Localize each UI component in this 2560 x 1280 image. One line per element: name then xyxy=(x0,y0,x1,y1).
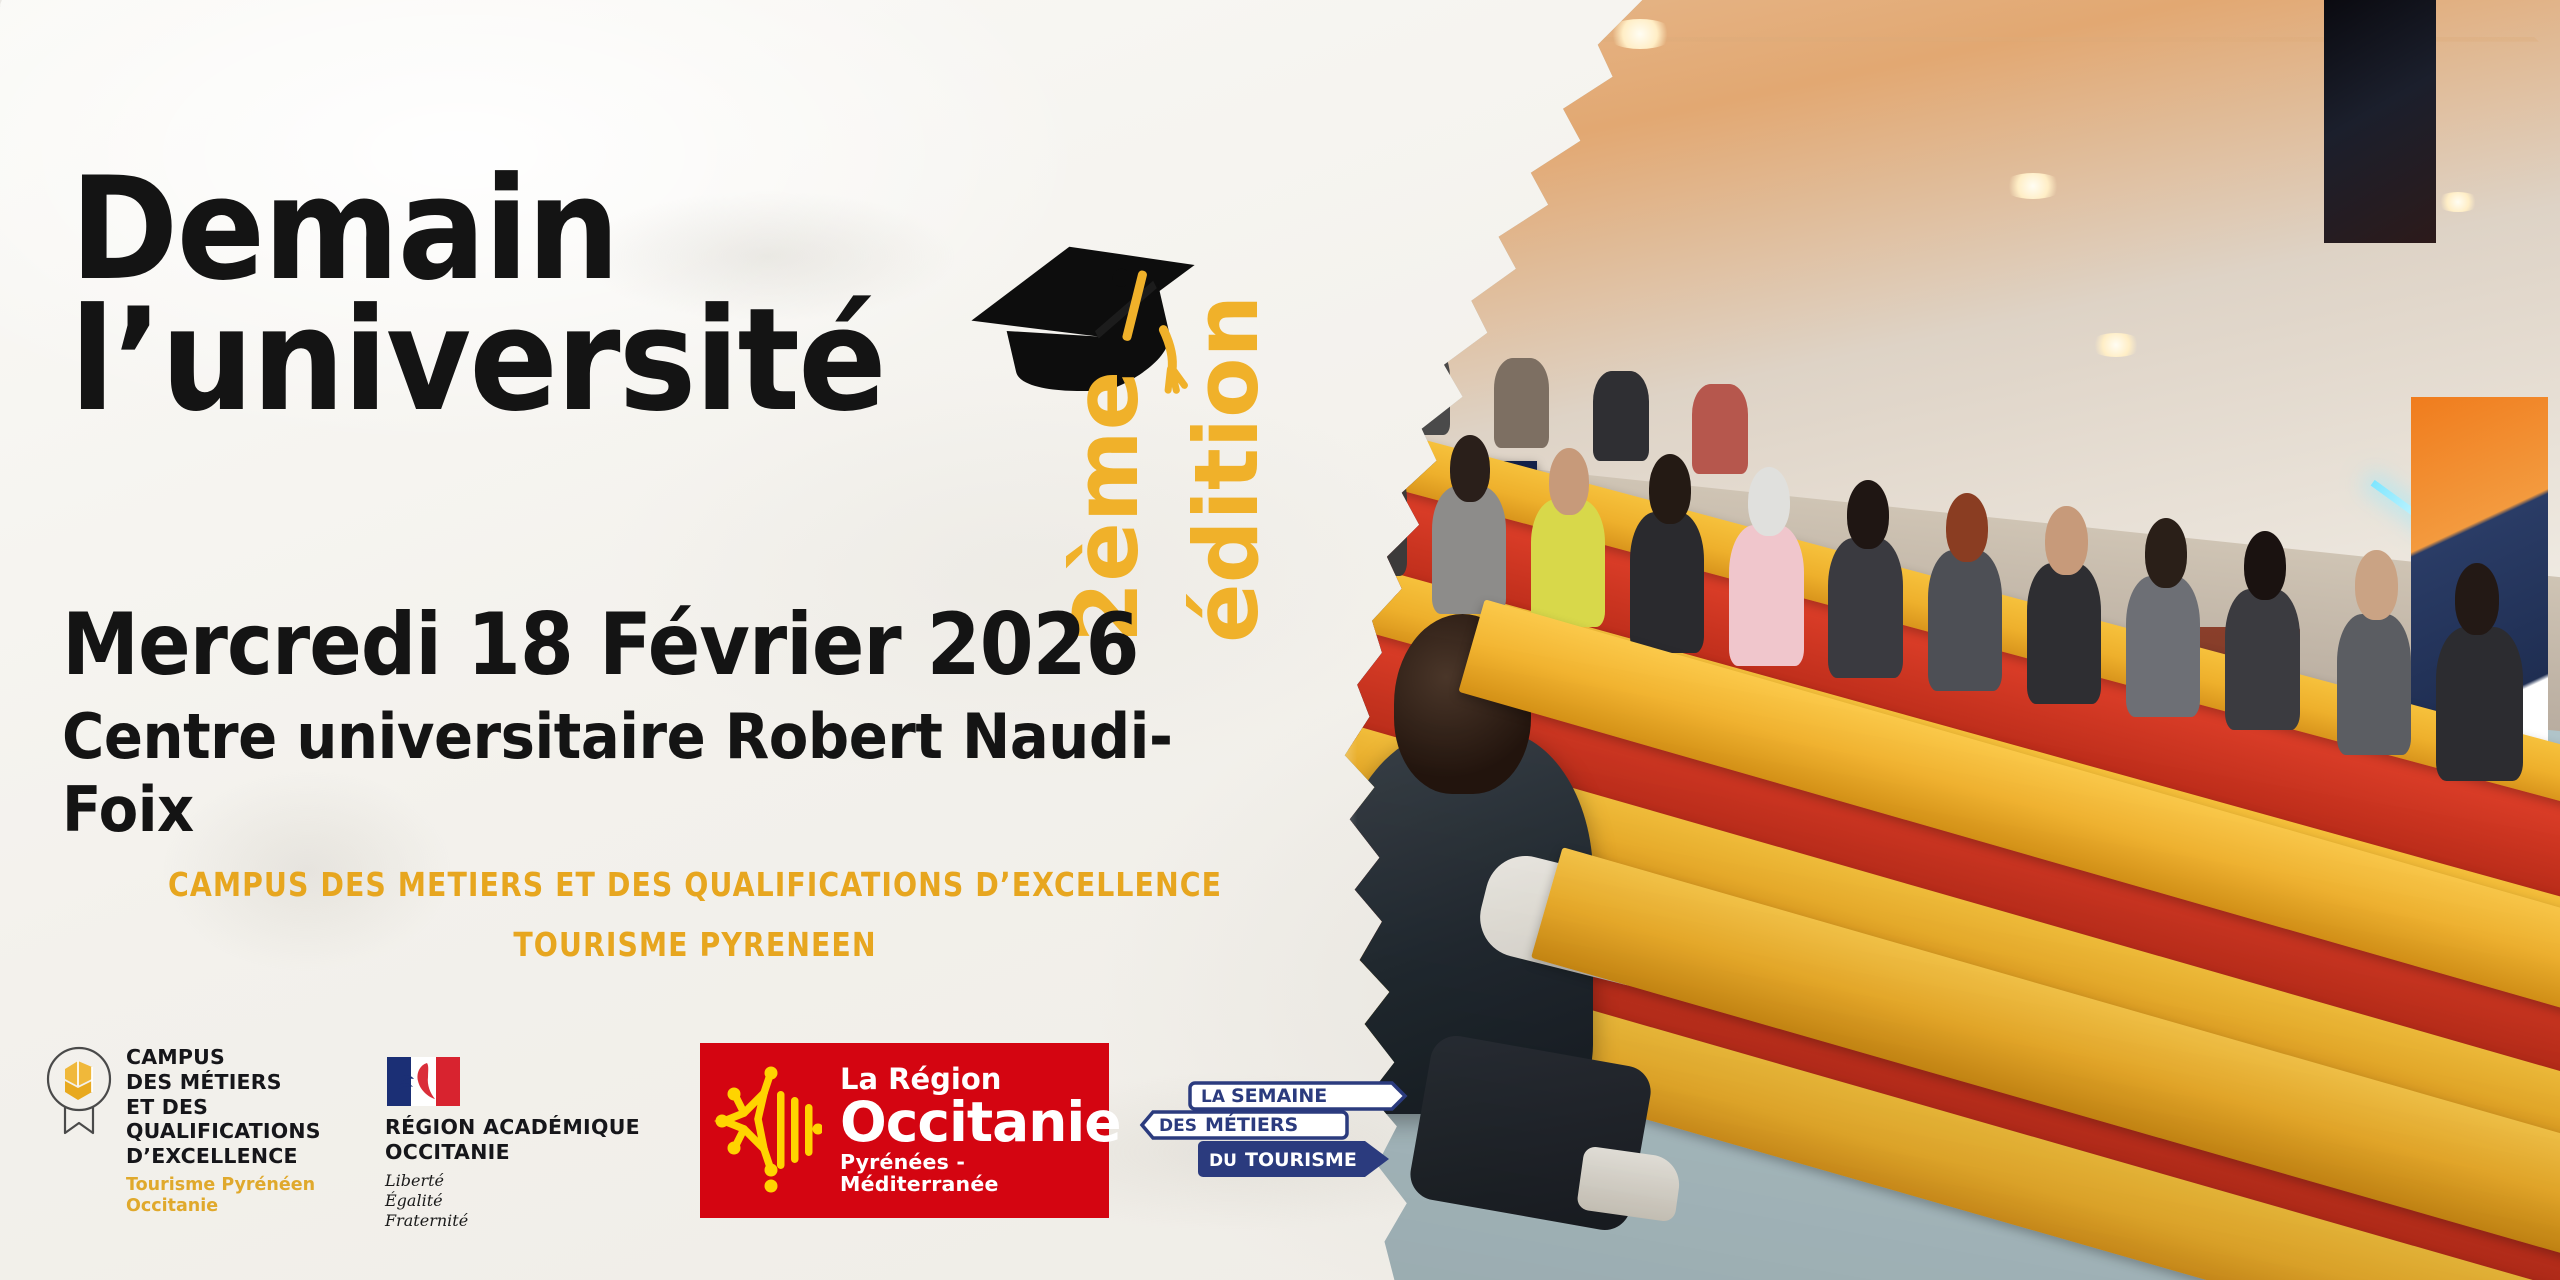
devise-republicaine: Liberté Égalité Fraternité xyxy=(385,1171,640,1231)
svg-text:SEMAINE: SEMAINE xyxy=(1231,1085,1327,1107)
occitanie-text: La Région Occitanie Pyrénées - Méditerra… xyxy=(840,1065,1121,1195)
campus-subtitle-line-2: TOURISME PYRENEEN xyxy=(97,925,1292,964)
svg-text:TOURISME: TOURISME xyxy=(1245,1149,1357,1171)
svg-text:LA: LA xyxy=(1201,1087,1226,1107)
devise-egalite: Égalité xyxy=(385,1191,640,1211)
devise-liberte: Liberté xyxy=(385,1171,640,1191)
cmq-sub-1: Tourisme Pyrénéen xyxy=(126,1175,321,1196)
semaine-signpost-icon: LA SEMAINE DES MÉTIERS DU TOURISME xyxy=(1137,1079,1412,1179)
campus-subtitle-line-1: CAMPUS DES METIERS ET DES QUALIFICATIONS… xyxy=(97,865,1292,904)
cmq-line-5: D’EXCELLENCE xyxy=(126,1144,321,1169)
logo-campus-des-metiers[interactable]: CAMPUS DES MÉTIERS ET DES QUALIFICATIONS… xyxy=(45,1045,321,1217)
cmq-line-4: QUALIFICATIONS xyxy=(126,1119,321,1144)
event-venue: Centre universitaire Robert Naudi-Foix xyxy=(62,700,1297,846)
title-line-2: l’université xyxy=(70,278,885,443)
left-content-column: Demain l’université 2ème édition Mercred… xyxy=(0,0,1390,1280)
occitanie-line-2: Occitanie xyxy=(840,1094,1121,1150)
cmq-sub-2: Occitanie xyxy=(126,1196,321,1217)
french-flag-marianne-icon xyxy=(387,1057,460,1106)
poster-root: Demain l’université 2ème édition Mercred… xyxy=(0,0,2560,1280)
cmq-subtext: Tourisme Pyrénéen Occitanie xyxy=(126,1175,321,1217)
logo-semaine-des-metiers-du-tourisme[interactable]: LA SEMAINE DES MÉTIERS DU TOURISME xyxy=(1137,1079,1412,1179)
cmq-text: CAMPUS DES MÉTIERS ET DES QUALIFICATIONS… xyxy=(126,1045,321,1169)
svg-text:DU: DU xyxy=(1209,1151,1237,1171)
occitan-cross-icon xyxy=(714,1063,822,1198)
devise-fraternite: Fraternité xyxy=(385,1211,640,1231)
logo-region-academique[interactable]: RÉGION ACADÉMIQUE OCCITANIE Liberté Égal… xyxy=(385,1057,640,1231)
occitanie-line-3: Pyrénées - Méditerranée xyxy=(840,1151,1121,1196)
svg-text:DES: DES xyxy=(1159,1116,1197,1136)
cmq-line-3: ET DES xyxy=(126,1095,321,1120)
page-title: Demain l’université xyxy=(70,165,885,426)
cmq-line-1: CAMPUS xyxy=(126,1045,321,1070)
racad-line-1: RÉGION ACADÉMIQUE xyxy=(385,1115,640,1140)
svg-text:MÉTIERS: MÉTIERS xyxy=(1205,1113,1298,1136)
cmq-line-2: DES MÉTIERS xyxy=(126,1070,321,1095)
cmq-medal-icon xyxy=(45,1045,113,1137)
event-date: Mercredi 18 Février 2026 xyxy=(62,595,1139,695)
racad-line-2: OCCITANIE xyxy=(385,1140,640,1165)
edition-word: édition xyxy=(1175,295,1278,643)
partner-logos: CAMPUS DES MÉTIERS ET DES QUALIFICATIONS… xyxy=(45,1035,1365,1250)
logo-region-occitanie[interactable]: La Région Occitanie Pyrénées - Méditerra… xyxy=(700,1043,1109,1218)
region-academique-text: RÉGION ACADÉMIQUE OCCITANIE xyxy=(385,1115,640,1165)
